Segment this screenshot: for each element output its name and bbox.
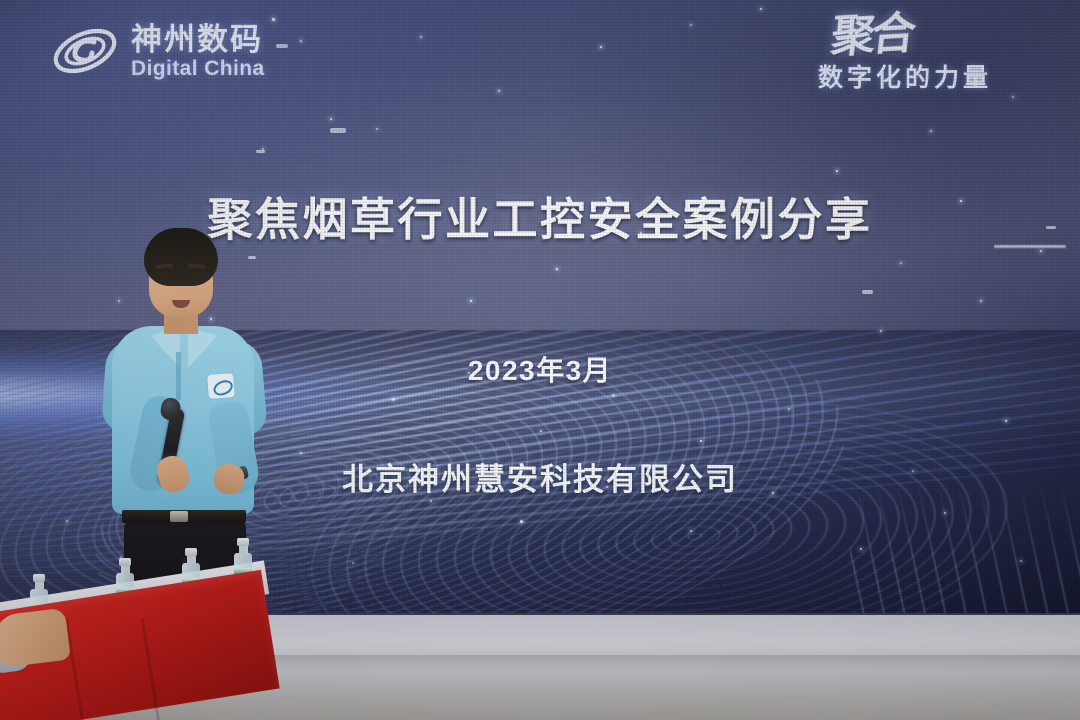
eye-right xyxy=(190,273,202,278)
light-particle xyxy=(880,330,882,332)
bottle-cap xyxy=(237,538,249,546)
light-particle xyxy=(980,300,982,302)
light-dash xyxy=(330,128,346,133)
digital-china-logo: 神州数码 Digital China xyxy=(48,20,265,82)
belt-buckle xyxy=(170,511,188,522)
light-particle xyxy=(1005,420,1007,422)
light-particle xyxy=(760,8,762,10)
bottle-cap xyxy=(185,548,197,556)
digital-china-swirl-icon xyxy=(48,20,122,82)
bottle-neck xyxy=(239,546,248,553)
light-particle xyxy=(1012,96,1014,98)
event-brandmark: 聚合 数字化的力量 xyxy=(804,14,1062,94)
light-particle xyxy=(900,262,902,264)
light-particle xyxy=(352,562,354,564)
light-particle xyxy=(690,24,692,26)
light-dash xyxy=(862,290,873,294)
light-particle xyxy=(420,36,422,38)
bottle-neck xyxy=(35,582,44,589)
light-particle xyxy=(836,170,838,172)
shirt-logo-badge xyxy=(207,373,235,399)
audience-member-arm xyxy=(0,608,71,669)
light-particle xyxy=(66,520,68,522)
brandmark-calligraphy: 聚合 xyxy=(829,8,1064,56)
logo-chinese-name: 神州数码 xyxy=(131,24,265,55)
light-particle xyxy=(700,440,702,442)
light-particle xyxy=(376,128,378,130)
light-particle xyxy=(690,530,692,532)
light-particle xyxy=(556,268,558,270)
light-particle xyxy=(1040,250,1042,252)
bottle-cap xyxy=(33,574,45,582)
light-particle xyxy=(300,40,302,42)
light-particle xyxy=(788,408,790,410)
light-dash xyxy=(256,150,265,153)
light-particle xyxy=(498,90,500,92)
bottle-neck xyxy=(187,556,196,563)
polo-placket xyxy=(176,352,181,400)
light-particle xyxy=(600,46,602,48)
light-particle xyxy=(470,300,472,302)
light-particle xyxy=(930,130,932,132)
light-particle xyxy=(1020,560,1022,562)
light-particle xyxy=(330,118,332,120)
bottle-neck xyxy=(121,566,130,573)
eye-left xyxy=(158,273,170,278)
light-dash xyxy=(276,44,288,48)
logo-english-name: Digital China xyxy=(131,58,265,79)
brandmark-tagline: 数字化的力量 xyxy=(818,58,1062,94)
light-particle xyxy=(860,548,862,550)
light-particle xyxy=(392,398,395,401)
presenter-hair xyxy=(144,228,218,286)
conference-photo: 神州数码 Digital China 聚合 数字化的力量 聚焦烟草行业工控安全案… xyxy=(0,0,1080,720)
light-particle xyxy=(272,18,275,21)
light-particle xyxy=(430,500,432,502)
light-particle xyxy=(944,512,946,514)
light-particle xyxy=(520,520,523,523)
bottle-cap xyxy=(119,558,131,566)
light-particle xyxy=(540,430,542,432)
light-particle xyxy=(612,394,615,397)
